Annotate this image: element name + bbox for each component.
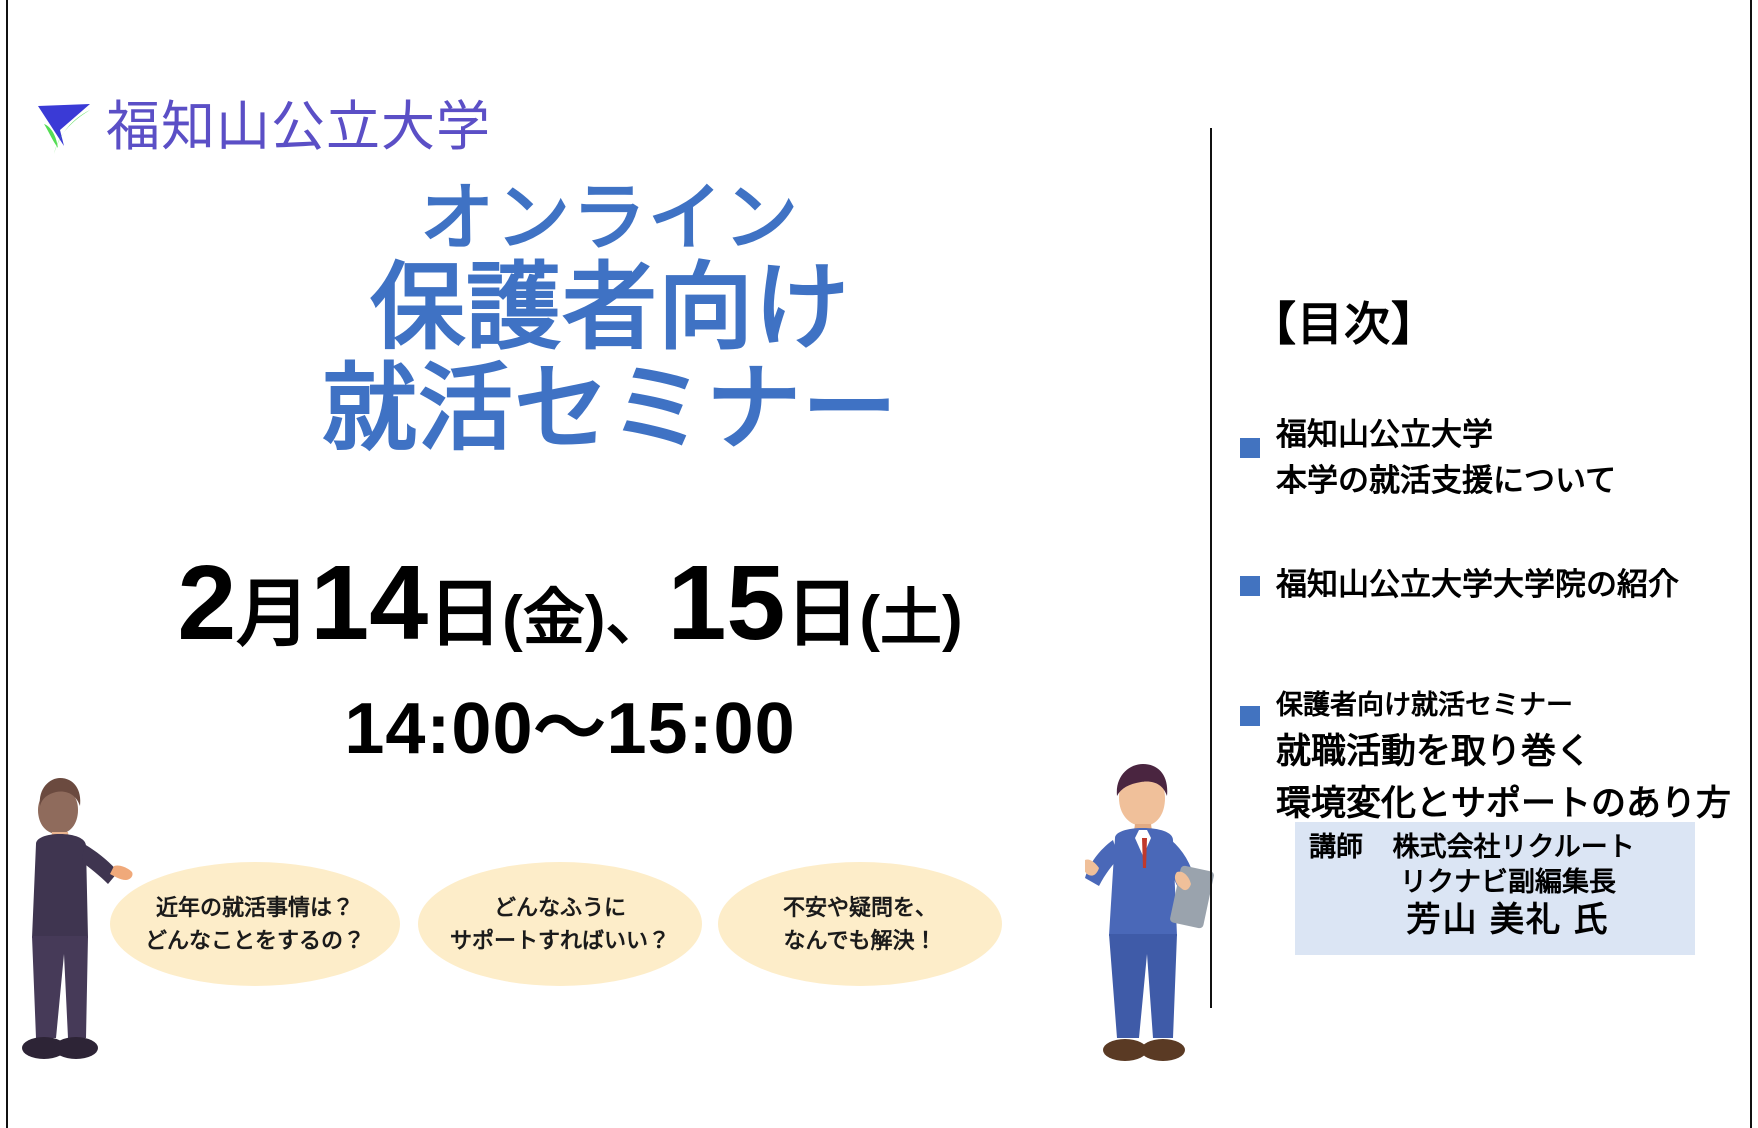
agenda-heading: 【目次】 xyxy=(1250,288,1438,354)
speaker-company-row: 講師 株式会社リクルート xyxy=(1309,830,1681,865)
bubble-line-2: どんなことをするの？ xyxy=(145,924,365,957)
bullet-square-icon xyxy=(1240,576,1260,596)
day2-unit: 日 xyxy=(785,572,859,655)
bubble-line-1: 近年の就活事情は？ xyxy=(156,891,354,924)
agenda-2-line-1: 福知山公立大学大学院の紹介 xyxy=(1276,562,1679,608)
day2-number: 15 xyxy=(667,544,785,662)
businessman-presenting-illustration-icon xyxy=(1085,740,1230,1080)
speaker-company: 株式会社リクルート xyxy=(1393,832,1635,862)
title-line-for-guardians: 保護者向け xyxy=(210,259,1010,358)
bubble-line-2: サポートすればいい？ xyxy=(450,924,670,957)
agenda-item-label: 保護者向け就活セミナー 就職活動を取り巻く 環境変化とサポートのあり方 xyxy=(1276,686,1731,830)
seminar-poster: 福知山公立大学 オンライン 保護者向け 就活セミナー 2月14日(金)、15日(… xyxy=(0,0,1758,1128)
schedule-block: 2月14日(金)、15日(土) 14:00～15:00 xyxy=(120,548,1020,774)
date-separator: 、 xyxy=(605,584,667,653)
bubble-line-2: なんでも解決！ xyxy=(784,924,937,957)
page-border-right xyxy=(1750,0,1752,1128)
question-bubble: 不安や疑問を、 なんでも解決！ xyxy=(718,862,1002,986)
vertical-divider xyxy=(1210,128,1212,1008)
agenda-1-line-2: 本学の就活支援について xyxy=(1276,458,1616,504)
bullet-square-icon xyxy=(1240,706,1260,726)
event-date: 2月14日(金)、15日(土) xyxy=(120,548,1020,659)
agenda-item-1: 福知山公立大学 本学の就活支援について xyxy=(1240,412,1616,504)
woman-pointing-illustration-icon xyxy=(6,748,156,1078)
bubble-line-1: 不安や疑問を、 xyxy=(783,891,937,924)
day1-weekday: (金) xyxy=(502,584,605,653)
month-number: 2 xyxy=(177,544,236,662)
agenda-item-label: 福知山公立大学 本学の就活支援について xyxy=(1276,412,1616,504)
question-bubble: どんなふうに サポートすればいい？ xyxy=(418,862,702,986)
university-name: 福知山公立大学 xyxy=(106,100,491,154)
bullet-square-icon xyxy=(1240,438,1260,458)
day1-number: 14 xyxy=(310,544,428,662)
agenda-item-2: 福知山公立大学大学院の紹介 xyxy=(1240,562,1679,608)
day1-unit: 日 xyxy=(428,572,502,655)
speaker-name: 芳山 美礼 氏 xyxy=(1309,899,1681,943)
page-title: オンライン 保護者向け 就活セミナー xyxy=(210,180,1010,459)
title-line-online: オンライン xyxy=(210,180,1010,257)
university-logo: 福知山公立大学 xyxy=(34,96,491,158)
fukuchiyama-swoosh-logo-icon xyxy=(34,96,96,158)
agenda-item-3: 保護者向け就活セミナー 就職活動を取り巻く 環境変化とサポートのあり方 xyxy=(1240,686,1731,830)
month-unit: 月 xyxy=(236,572,310,655)
agenda-3-line-1: 保護者向け就活セミナー xyxy=(1276,686,1731,726)
event-time: 14:00～15:00 xyxy=(120,669,1020,774)
agenda-item-label: 福知山公立大学大学院の紹介 xyxy=(1276,562,1679,608)
speaker-info-box: 講師 株式会社リクルート リクナビ副編集長 芳山 美礼 氏 xyxy=(1295,822,1695,955)
agenda-1-line-1: 福知山公立大学 xyxy=(1276,412,1616,458)
speaker-label: 講師 xyxy=(1309,832,1363,862)
agenda-3-line-2: 就職活動を取り巻く xyxy=(1276,726,1731,778)
speaker-role: リクナビ副編集長 xyxy=(1309,865,1681,900)
bubble-line-1: どんなふうに xyxy=(494,891,626,924)
title-line-job-seminar: 就活セミナー xyxy=(210,360,1010,459)
day2-weekday: (土) xyxy=(859,584,962,653)
